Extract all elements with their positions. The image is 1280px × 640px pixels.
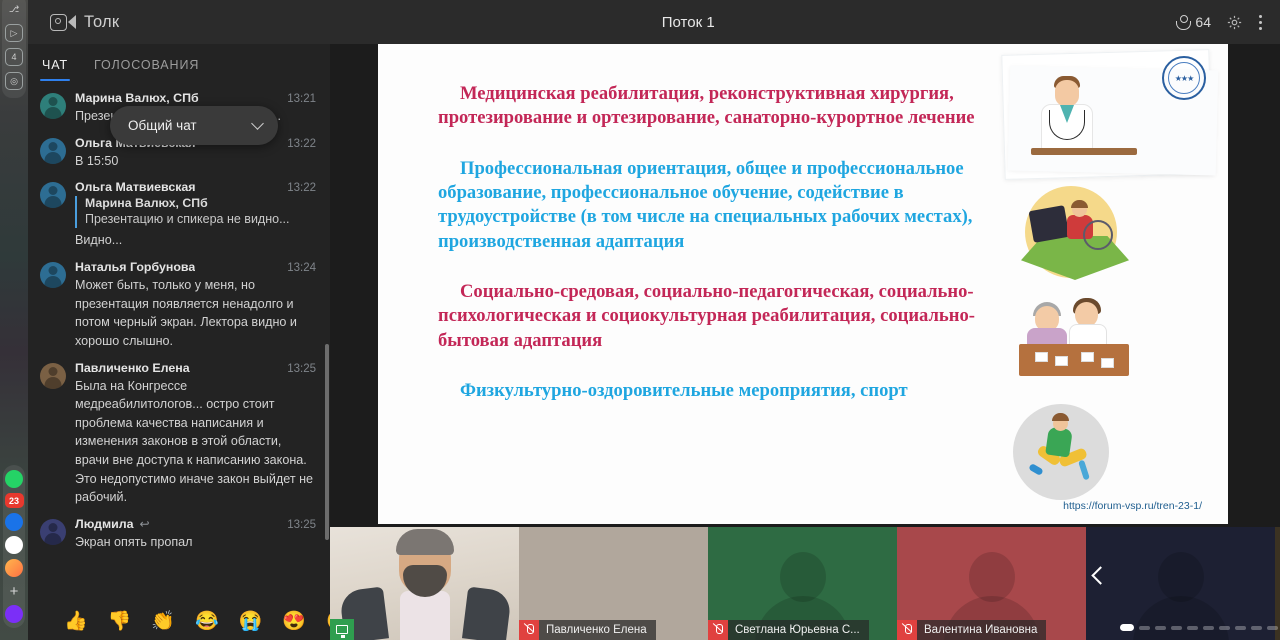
avatar — [40, 182, 66, 208]
person-icon — [1176, 15, 1189, 30]
thumbs-up-emoji[interactable]: 👍 — [64, 612, 88, 631]
participant-name-chip: Павличенко Елена — [519, 620, 656, 640]
participant-name: Павличенко Елена — [539, 620, 656, 640]
participant-video — [330, 527, 519, 640]
message-text: Видно... — [75, 231, 316, 250]
slide-paragraph: Профессиональная ориентация, общее и про… — [438, 157, 1018, 254]
message-author: Марина Валюх, СПб — [75, 91, 199, 105]
app-brand: Толк — [28, 13, 330, 32]
joy-emoji[interactable]: 😂 — [195, 612, 219, 631]
participant-tile-active[interactable] — [330, 527, 519, 640]
message-text: Экран опять пропал — [75, 533, 316, 552]
seal-stars: ★★★ — [1168, 62, 1200, 94]
avatar — [40, 519, 66, 545]
pagination-dot[interactable] — [1219, 626, 1230, 630]
slide-paragraph: Медицинская реабилитация, реконструктивн… — [438, 82, 1018, 131]
pagination-dot[interactable] — [1267, 626, 1278, 630]
app-header: Толк Поток 1 64 — [28, 0, 1280, 44]
participant-tile[interactable]: Павличенко Елена — [519, 527, 708, 640]
message-time: 13:22 — [287, 138, 316, 150]
list-item: Людмила ↩ 13:25 Экран опять пропал — [28, 510, 330, 555]
quoted-message[interactable]: Марина Валюх, СПб Презентацию и спикера … — [75, 196, 316, 228]
slide-paragraph: Физкультурно-оздоровительные мероприятия… — [438, 379, 1018, 403]
quoted-text: Презентацию и спикера не видно... — [85, 210, 316, 228]
mic-off-icon — [708, 620, 728, 640]
message-text: Была на Конгрессе медреабилитологов... о… — [75, 377, 316, 507]
official-seal-icon: ★★★ — [1162, 56, 1206, 100]
message-time: 13:25 — [287, 519, 316, 531]
reply-icon[interactable]: ↩ — [140, 518, 150, 530]
conference-app-window: Толк Поток 1 64 ЧАТ — [28, 0, 1280, 640]
avatar — [40, 262, 66, 288]
header-controls: 64 — [1176, 14, 1280, 31]
chat-scrollbar[interactable] — [325, 344, 329, 540]
clipboard-icon[interactable]: ⎇ — [5, 0, 23, 18]
slide-text-body: Медицинская реабилитация, реконструктивн… — [438, 82, 1018, 429]
filmstrip-prev-button[interactable] — [1094, 569, 1111, 599]
shared-slide[interactable]: Медицинская реабилитация, реконструктивн… — [378, 44, 1228, 524]
quoted-author: Марина Валюх, СПб — [85, 196, 316, 210]
gear-icon[interactable] — [1226, 14, 1243, 31]
avatar — [40, 363, 66, 389]
participant-filmstrip: Павличенко Елена Светлана Юрьевна С... В… — [330, 527, 1280, 640]
pagination-dot[interactable] — [1171, 626, 1182, 630]
message-author: Людмила — [75, 517, 134, 531]
brand-name: Толк — [84, 13, 119, 32]
chat-message-list[interactable]: Марина Валюх, СПб 13:21 Презентацию и сп… — [28, 84, 330, 608]
video-camera-logo-icon — [50, 14, 76, 31]
chat-scope-dropdown[interactable]: Общий чат — [110, 106, 278, 145]
notification-badge[interactable]: 23 — [5, 493, 24, 508]
participant-name: Валентина Ивановна — [917, 620, 1046, 640]
chat-panel: ЧАТ ГОЛОСОВАНИЯ Марина Валюх, СПб 13:21 … — [28, 44, 330, 640]
mic-off-icon — [897, 620, 917, 640]
participant-name-chip: Валентина Ивановна — [897, 620, 1046, 640]
wheelchair-work-illustration — [1017, 184, 1135, 284]
pagination-dot[interactable] — [1251, 626, 1262, 630]
message-author: Наталья Горбунова — [75, 260, 195, 274]
chat-scope-value: Общий чат — [128, 118, 197, 133]
play-circle-icon[interactable]: ▷ — [5, 24, 23, 42]
message-time: 13:24 — [287, 262, 316, 274]
sob-emoji[interactable]: 😭 — [239, 612, 263, 631]
participant-tile[interactable]: Валентина Ивановна — [897, 527, 1086, 640]
pagination-dot[interactable] — [1187, 626, 1198, 630]
slide-paragraph: Социально-средовая, социально-педагогиче… — [438, 280, 1018, 353]
mic-off-icon — [519, 620, 539, 640]
pagination-dot[interactable] — [1235, 626, 1246, 630]
tab-chat[interactable]: ЧАТ — [40, 47, 70, 81]
slide-url[interactable]: https://forum-vsp.ru/tren-23-1/ — [1063, 500, 1202, 512]
thumbs-down-emoji[interactable]: 👎 — [108, 612, 132, 631]
message-time: 13:22 — [287, 182, 316, 194]
avatar — [40, 93, 66, 119]
workspace-4-icon[interactable]: 4 — [5, 48, 23, 66]
chat-tabs: ЧАТ ГОЛОСОВАНИЯ — [28, 44, 330, 84]
list-item: Наталья Горбунова 13:24 Может быть, толь… — [28, 253, 330, 354]
social-therapy-illustration — [1013, 294, 1143, 384]
clap-emoji[interactable]: 👏 — [151, 612, 175, 631]
more-options-icon[interactable] — [1258, 14, 1262, 31]
mail-icon[interactable] — [5, 559, 23, 577]
heart-eyes-emoji[interactable]: 😍 — [282, 612, 306, 631]
message-time: 13:25 — [287, 363, 316, 375]
pagination-dot[interactable] — [1155, 626, 1166, 630]
gmail-icon[interactable] — [5, 536, 23, 554]
participant-name-chip: Светлана Юрьевна С... — [708, 620, 869, 640]
filmstrip-pagination[interactable] — [1120, 624, 1278, 631]
doctor-illustration — [1033, 72, 1103, 160]
message-text: В 15:50 — [75, 152, 316, 171]
reaction-bar: 👍 👎 👏 😂 😭 😍 😕 — [28, 602, 330, 640]
screen-share-icon — [330, 619, 354, 640]
screenshot-camera-icon[interactable]: ◎ — [5, 72, 23, 90]
os-dock-top-group: ⎇ ▷ 4 ◎ — [2, 0, 26, 98]
whatsapp-icon[interactable] — [5, 470, 23, 488]
participants-button[interactable]: 64 — [1176, 14, 1211, 30]
chevron-down-icon — [251, 117, 264, 130]
tab-polls[interactable]: ГОЛОСОВАНИЯ — [92, 47, 201, 81]
list-item: Ольга Матвиевская 13:22 Марина Валюх, СП… — [28, 173, 330, 253]
message-text: Может быть, только у меня, но презентаци… — [75, 276, 316, 351]
os-dock-bottom-group: 23 + — [3, 465, 25, 628]
participant-tile[interactable]: Светлана Юрьевна С... — [708, 527, 897, 640]
telegram-icon[interactable] — [5, 513, 23, 531]
participant-name: Светлана Юрьевна С... — [728, 620, 869, 640]
message-author: Павличенко Елена — [75, 361, 190, 375]
purple-app-icon[interactable] — [5, 605, 23, 623]
pagination-dot[interactable] — [1139, 626, 1150, 630]
list-item: Павличенко Елена 13:25 Была на Конгрессе… — [28, 354, 330, 510]
add-app-button[interactable]: + — [5, 582, 23, 600]
sport-runner-illustration — [1011, 402, 1121, 502]
slide-illustrations: ★★★ — [995, 44, 1220, 524]
message-time: 13:21 — [287, 93, 316, 105]
avatar — [40, 138, 66, 164]
participants-count: 64 — [1195, 14, 1211, 30]
room-title: Поток 1 — [330, 14, 1046, 31]
os-dock: ⎇ ▷ 4 ◎ 23 + — [0, 0, 28, 640]
message-author: Ольга Матвиевская — [75, 180, 196, 194]
pagination-dot[interactable] — [1120, 624, 1134, 631]
pagination-dot[interactable] — [1203, 626, 1214, 630]
